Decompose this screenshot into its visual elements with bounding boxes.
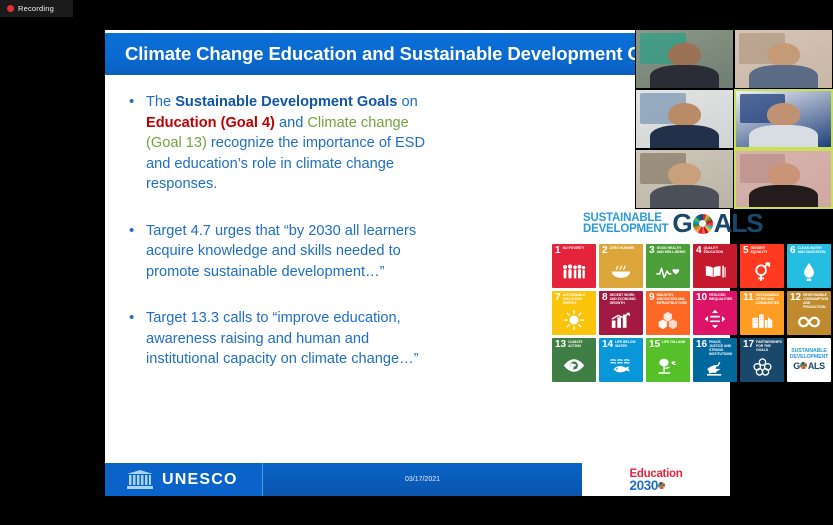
sdg-goal-name: INDUSTRY, INNOVATION AND INFRASTRUCTURE — [657, 294, 688, 306]
sdg-grid-logo-g: G — [793, 361, 800, 371]
sdg-goal-name: ZERO HUNGER — [610, 247, 635, 251]
sdg-goal-name: CLEAN WATER AND SANITATION — [798, 247, 828, 255]
sdg-goal-name: SUSTAINABLE CITIES AND COMMUNITIES — [756, 294, 781, 306]
sdg-goal-tile-9: 9INDUSTRY, INNOVATION AND INFRASTRUCTURE — [646, 291, 690, 335]
sdg-grid-logo-als: ALS — [808, 361, 825, 371]
sdg-goal-tile-15: 15LIFE ON LAND — [646, 338, 690, 382]
sun-icon — [552, 306, 596, 335]
slide-footer: UNESCO 03/17/2021 Education 2030 — [105, 463, 730, 496]
recording-badge: Recording — [0, 0, 73, 17]
bullet-item: •Target 13.3 calls to “improve education… — [129, 308, 429, 370]
sdg-goal-tile-4: 4QUALITY EDUCATION — [693, 244, 737, 288]
sdg-goal-number: 10 — [696, 294, 707, 302]
sdg-goal-number: 6 — [790, 247, 796, 255]
equal-arrows-icon — [693, 302, 737, 335]
people-icon — [552, 255, 596, 288]
sdg-goal-tile-14: 14LIFE BELOW WATER — [599, 338, 643, 382]
bullet-segment: Education (Goal 4) — [146, 115, 275, 131]
sdg-wordmark-goals: G ALS — [672, 208, 762, 239]
participant-head — [767, 103, 799, 125]
sdg-goal-name: REDUCED INEQUALITIES — [709, 294, 734, 302]
water-drop-icon — [787, 255, 831, 288]
participant-torso — [650, 185, 720, 209]
sdg-goal-number: 12 — [790, 294, 801, 302]
sdg-goal-name: PARTNERSHIPS FOR THE GOALS — [756, 341, 782, 353]
screen-root: Recording Climate Change Education and S… — [0, 0, 833, 525]
growth-chart-icon — [599, 306, 643, 335]
participant-torso — [749, 65, 819, 89]
sdg-goal-name: AFFORDABLE AND CLEAN ENERGY — [563, 294, 593, 306]
sdg-goal-number: 4 — [696, 247, 702, 255]
sdg-goal-number: 5 — [743, 247, 749, 255]
sdg-color-wheel-icon — [693, 214, 713, 234]
cubes-icon — [646, 306, 690, 335]
participant-head — [767, 43, 800, 66]
footer-date-zone: 03/17/2021 — [263, 463, 582, 496]
circles-icon — [740, 353, 784, 382]
participant-torso — [650, 65, 720, 89]
sdg-goal-number: 16 — [696, 341, 707, 349]
sdg-goal-number: 1 — [555, 247, 561, 255]
sdg-goal-tile-11: 11SUSTAINABLE CITIES AND COMMUNITIES — [740, 291, 784, 335]
sdg-goal-number: 15 — [649, 341, 660, 349]
bullet-segment: and — [275, 115, 307, 131]
video-tile-participant-5[interactable] — [635, 149, 734, 209]
sdg-goal-name: LIFE BELOW WATER — [615, 341, 640, 349]
sdg-goal-tile-16: 16PEACE, JUSTICE AND STRONG INSTITUTIONS — [693, 338, 737, 382]
bullet-text: The Sustainable Development Goals on Edu… — [146, 92, 429, 195]
sdg-goal-number: 7 — [555, 294, 561, 302]
sdg-goal-tile-5: 5GENDER EQUALITY — [740, 244, 784, 288]
recording-dot-icon — [7, 5, 14, 12]
bullet-marker-icon: • — [129, 221, 137, 283]
sdg-goal-name: GENDER EQUALITY — [751, 247, 781, 255]
education-2030-logo: Education 2030 — [582, 463, 730, 496]
video-participant-grid[interactable] — [635, 29, 833, 209]
tree-bird-icon — [646, 349, 690, 382]
infinity-icon — [787, 310, 831, 335]
sdg-goal-name: RESPONSIBLE CONSUMPTION AND PRODUCTION — [803, 294, 828, 310]
bullet-segment: The — [146, 94, 175, 110]
fish-icon — [599, 349, 643, 382]
participant-torso — [749, 185, 817, 209]
dove-gavel-icon — [693, 357, 737, 382]
sdg-goal-tile-10: 10REDUCED INEQUALITIES — [693, 291, 737, 335]
gender-icon — [740, 255, 784, 288]
recording-label: Recording — [18, 4, 54, 13]
bowl-icon — [599, 255, 643, 288]
education-2030-bottom-row: 2030 — [630, 480, 666, 491]
sdg-wordmark-g: G — [672, 208, 691, 239]
sdg-color-wheel-small-icon — [658, 482, 665, 489]
sdg-goal-tile-13: 13CLIMATE ACTION — [552, 338, 596, 382]
bullet-text: Target 13.3 calls to “improve education,… — [146, 308, 429, 370]
sdg-goal-name: DECENT WORK AND ECONOMIC GROWTH — [610, 294, 640, 306]
participant-head — [668, 103, 701, 126]
participant-head — [668, 43, 701, 66]
sdg-grid-logo-goals: GALS — [793, 361, 824, 371]
sdg-wordmark-line1: SUSTAINABLE — [583, 213, 668, 224]
sdg-goal-tile-8: 8DECENT WORK AND ECONOMIC GROWTH — [599, 291, 643, 335]
sdg-color-wheel-tile-icon — [800, 362, 807, 369]
bullet-marker-icon: • — [129, 308, 137, 370]
unesco-logo: UNESCO — [105, 463, 263, 496]
sdg-goal-number: 11 — [743, 294, 754, 302]
unesco-temple-icon — [127, 470, 153, 489]
sdg-wordmark-als: ALS — [714, 208, 763, 239]
sdg-goal-tile-2: 2ZERO HUNGER — [599, 244, 643, 288]
sdg-grid-logo-tile: SUSTAINABLEDEVELOPMENTGALS — [787, 338, 831, 382]
video-tile-participant-4[interactable] — [734, 89, 833, 149]
sdg-goal-tile-6: 6CLEAN WATER AND SANITATION — [787, 244, 831, 288]
sdg-goal-name: LIFE ON LAND — [662, 341, 685, 345]
heartbeat-icon — [646, 255, 690, 288]
video-tile-participant-2[interactable] — [734, 29, 833, 89]
sdg-goal-tile-7: 7AFFORDABLE AND CLEAN ENERGY — [552, 291, 596, 335]
sdg-goal-tile-1: 1NO POVERTY — [552, 244, 596, 288]
video-tile-participant-6[interactable] — [734, 149, 833, 209]
bullet-segment: Target 4.7 urges that “by 2030 all learn… — [146, 223, 416, 280]
education-2030-bottom: 2030 — [630, 480, 658, 491]
bullet-item: •The Sustainable Development Goals on Ed… — [129, 92, 429, 195]
page-title: Climate Change Education and Sustainable… — [105, 43, 678, 65]
video-tile-participant-1[interactable] — [635, 29, 734, 89]
sdg-goal-number: 3 — [649, 247, 655, 255]
sdg-goal-number: 2 — [602, 247, 608, 255]
participant-torso — [650, 125, 720, 149]
sdg-goal-tile-12: 12RESPONSIBLE CONSUMPTION AND PRODUCTION — [787, 291, 831, 335]
sdg-goal-number: 17 — [743, 341, 754, 349]
slide-date: 03/17/2021 — [405, 476, 440, 483]
participant-head — [767, 163, 799, 185]
eye-earth-icon — [552, 349, 596, 382]
sdg-goal-name: GOOD HEALTH AND WELL-BEING — [657, 247, 687, 255]
sdg-goal-name: CLIMATE ACTION — [568, 341, 593, 349]
video-tile-participant-3[interactable] — [635, 89, 734, 149]
bullet-text: Target 4.7 urges that “by 2030 all learn… — [146, 221, 429, 283]
book-icon — [693, 255, 737, 288]
bullet-segment: Sustainable Development Goals — [175, 94, 397, 110]
sdg-wordmark-lines: SUSTAINABLE DEVELOPMENT — [583, 213, 668, 235]
bullet-item: •Target 4.7 urges that “by 2030 all lear… — [129, 221, 429, 283]
slide-bullet-list: •The Sustainable Development Goals on Ed… — [129, 92, 429, 396]
city-icon — [740, 306, 784, 335]
sdg-goal-number: 9 — [649, 294, 655, 302]
sdg-goal-number: 8 — [602, 294, 608, 302]
bullet-marker-icon: • — [129, 92, 137, 195]
unesco-label: UNESCO — [162, 471, 238, 489]
sdg-goal-name: PEACE, JUSTICE AND STRONG INSTITUTIONS — [709, 341, 734, 357]
bullet-segment: Target 13.3 calls to “improve education,… — [146, 310, 419, 367]
sdg-goal-number: 14 — [602, 341, 613, 349]
sdg-goal-grid: 1NO POVERTY 2ZERO HUNGER 3GOOD HEALTH AN… — [552, 244, 831, 382]
sdg-goal-number: 13 — [555, 341, 566, 349]
sdg-goal-tile-3: 3GOOD HEALTH AND WELL-BEING — [646, 244, 690, 288]
sdg-goal-tile-17: 17PARTNERSHIPS FOR THE GOALS — [740, 338, 784, 382]
sdg-wordmark: SUSTAINABLE DEVELOPMENT G ALS — [583, 208, 763, 239]
participant-head — [668, 163, 701, 186]
sdg-goal-name: NO POVERTY — [563, 247, 585, 251]
participant-torso — [749, 125, 817, 149]
sdg-goal-name: QUALITY EDUCATION — [704, 247, 734, 255]
sdg-wordmark-line2: DEVELOPMENT — [583, 224, 668, 235]
bullet-segment: on — [397, 94, 417, 110]
